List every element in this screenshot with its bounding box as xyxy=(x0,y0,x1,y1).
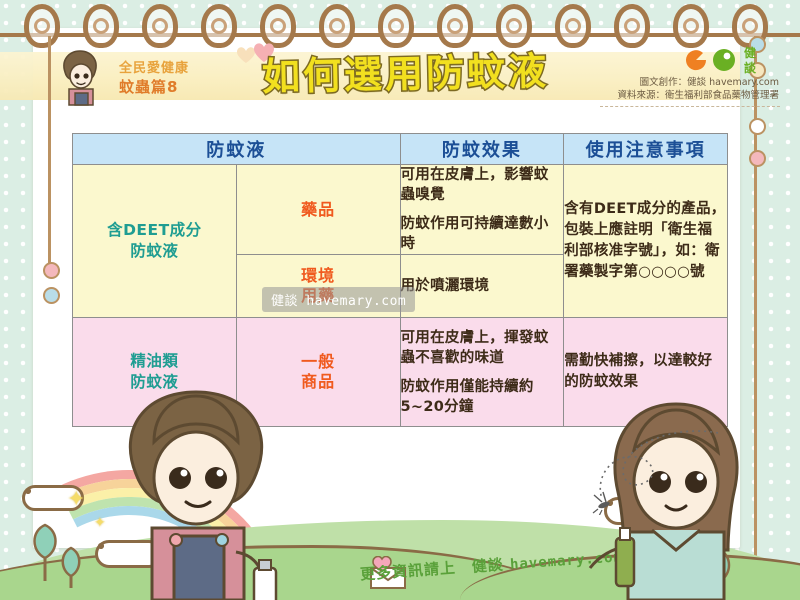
episode-label: 蚊蟲篇8 xyxy=(119,76,178,97)
credits-block: 圖文創作：健談 havemary.com 資料來源：衛生福利部食品藥物管理署 xyxy=(611,76,779,102)
mosquito-flight-path xyxy=(592,425,722,515)
table-header-row: 防蚊液 防蚊效果 使用注意事項 xyxy=(73,134,728,165)
binding-ring xyxy=(83,4,119,48)
bead-white-right xyxy=(749,118,766,135)
cell-effect-general: 可用在皮膚上，揮發蚊蟲不喜歡的味道 防蚊作用僅能持續約5~20分鐘 xyxy=(400,318,564,427)
spiral-binding: (function(){ var s=document.currentScrip… xyxy=(0,0,800,46)
infographic-canvas: (function(){ var s=document.currentScrip… xyxy=(0,0,800,600)
col-header-product: 防蚊液 xyxy=(73,134,401,165)
binding-ring xyxy=(673,4,709,48)
category-line-2: 防蚊液 xyxy=(73,241,236,262)
cell-subtype-medicine: 藥品 xyxy=(236,165,400,255)
page-title: 如何選用防蚊液 xyxy=(227,44,583,103)
tree-icon xyxy=(52,528,90,590)
bead-pink-right xyxy=(749,150,766,167)
credit-source: 資料來源：衛生福利部食品藥物管理署 xyxy=(611,89,779,102)
credits-divider xyxy=(600,106,780,107)
effect-text-2: 防蚊作用可持續達數小時 xyxy=(401,214,564,254)
pacman-orange-icon xyxy=(686,50,706,70)
binding-ring xyxy=(201,4,237,48)
spray-bottle-icon xyxy=(254,568,276,600)
cell-note-deet: 含有DEET成分的產品，包裝上應註明「衛生福利部核准字號」，如：衛署藥製字第○○… xyxy=(564,165,728,318)
cell-effect-medicine: 可用在皮膚上，影響蚊蟲嗅覺 防蚊作用可持續達數小時 xyxy=(400,165,564,255)
pacman-green-icon xyxy=(713,49,735,71)
cell-category-deet: 含DEET成分 防蚊液 xyxy=(73,165,237,318)
table-row: 含DEET成分 防蚊液 藥品 可用在皮膚上，影響蚊蟲嗅覺 防蚊作用可持續達數小時… xyxy=(73,165,728,255)
girl-avatar-icon xyxy=(51,46,113,108)
col-header-notes: 使用注意事項 xyxy=(564,134,728,165)
sparkle-icon: ✦ xyxy=(67,487,85,512)
binding-ring xyxy=(614,4,650,48)
binding-ring xyxy=(496,4,532,48)
binding-ring xyxy=(378,4,414,48)
effect-text-1: 可用在皮膚上，揮發蚊蟲不喜歡的味道 xyxy=(401,328,564,368)
category-line-1: 精油類 xyxy=(73,351,236,372)
category-line-1: 含DEET成分 xyxy=(73,220,236,241)
binding-ring xyxy=(319,4,355,48)
effect-text-1: 用於噴灑環境 xyxy=(401,276,564,296)
subtype-line-1: 一般 xyxy=(237,352,400,372)
binding-ring xyxy=(555,4,591,48)
episode-badge: 全民愛健康 蚊蟲篇8 xyxy=(33,52,255,98)
binding-ring xyxy=(142,4,178,48)
bead-pink-left xyxy=(43,262,60,279)
character-girl-left xyxy=(96,382,306,600)
bead-blue-left xyxy=(43,287,60,304)
svg-text:健: 健 xyxy=(744,45,757,60)
series-label: 全民愛健康 xyxy=(119,57,189,76)
svg-text:談: 談 xyxy=(744,60,757,75)
havemary-logo: 健 談 xyxy=(686,44,776,76)
credit-author: 圖文創作：健談 havemary.com xyxy=(611,76,779,89)
effect-text-2: 防蚊作用僅能持續約5~20分鐘 xyxy=(401,377,564,417)
binding-ring xyxy=(24,4,60,48)
binding-ring xyxy=(437,4,473,48)
watermark: 健談 havemary.com xyxy=(262,287,415,312)
effect-text-1: 可用在皮膚上，影響蚊蟲嗅覺 xyxy=(401,165,564,205)
cell-effect-environment: 用於噴灑環境 xyxy=(400,255,564,318)
subtype-line-1: 環境 xyxy=(237,266,400,286)
col-header-effect: 防蚊效果 xyxy=(400,134,564,165)
repellent-bottle-icon xyxy=(616,538,634,586)
